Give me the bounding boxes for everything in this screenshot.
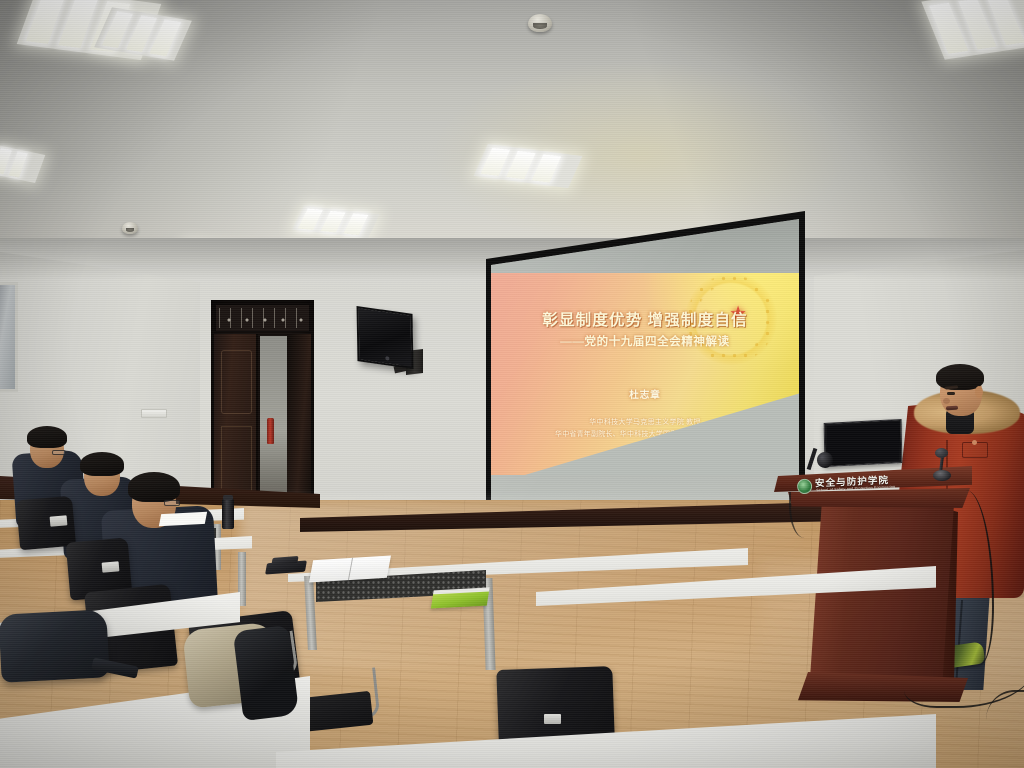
audience-hair (27, 426, 67, 448)
laptop[interactable] (824, 419, 903, 467)
chair-tag (544, 714, 561, 724)
paper-sheet (159, 512, 207, 527)
microphone-head (935, 448, 948, 458)
slide-affiliation-line-2: 华中省青年副院长、华中科技大学国家治理研究院副院长 (491, 429, 799, 439)
slide-speaker-name: 杜志章 (491, 387, 799, 401)
window (0, 282, 18, 392)
audience-hair (80, 452, 124, 476)
doorway (211, 300, 314, 513)
eyeglasses-icon (164, 500, 180, 506)
laptop-screen (827, 422, 900, 464)
smoke-detector-icon (528, 14, 552, 32)
door-leaf (214, 334, 258, 510)
photo-scene: ★ 彰显制度优势 增强制度自信 ——党的十九届四全会精神解读 杜志章 华中科技大… (0, 0, 1024, 768)
door-opening (260, 336, 288, 510)
door-transom (215, 304, 310, 332)
speaker-ear (975, 386, 983, 398)
slide-title: 彰显制度优势 增强制度自信 (491, 308, 799, 330)
dark-jacket (233, 625, 300, 721)
slide-subtitle: ——党的十九届四全会精神解读 (491, 333, 799, 349)
chair-tag (102, 561, 120, 572)
thermos-flask (222, 498, 234, 529)
black-backpack (0, 609, 110, 683)
speaker-nose (943, 398, 950, 404)
chair-tag (50, 515, 68, 526)
speaker-jacket-pocket (962, 442, 988, 458)
green-notebook (431, 590, 489, 608)
fire-extinguisher-icon (267, 418, 274, 444)
speaker-mouth (946, 406, 958, 411)
wall-monitor (357, 306, 414, 369)
microphone-base (933, 470, 951, 481)
slide-content: ★ 彰显制度优势 增强制度自信 ——党的十九届四全会精神解读 杜志章 华中科技大… (491, 267, 799, 497)
smoke-detector-icon (122, 222, 138, 234)
transom-ornament-icon (220, 315, 306, 325)
wall-switch-plate (141, 409, 167, 418)
audience-hair (128, 472, 180, 502)
door-leaf-open (287, 334, 311, 512)
speaker-eye (947, 392, 955, 395)
eyeglasses-icon (52, 450, 66, 455)
projection-screen: ★ 彰显制度优势 增强制度自信 ——党的十九届四全会精神解读 杜志章 华中科技大… (491, 219, 799, 545)
slide-affiliation-line-1: 华中科技大学马克思主义学院 教授 (491, 417, 799, 427)
